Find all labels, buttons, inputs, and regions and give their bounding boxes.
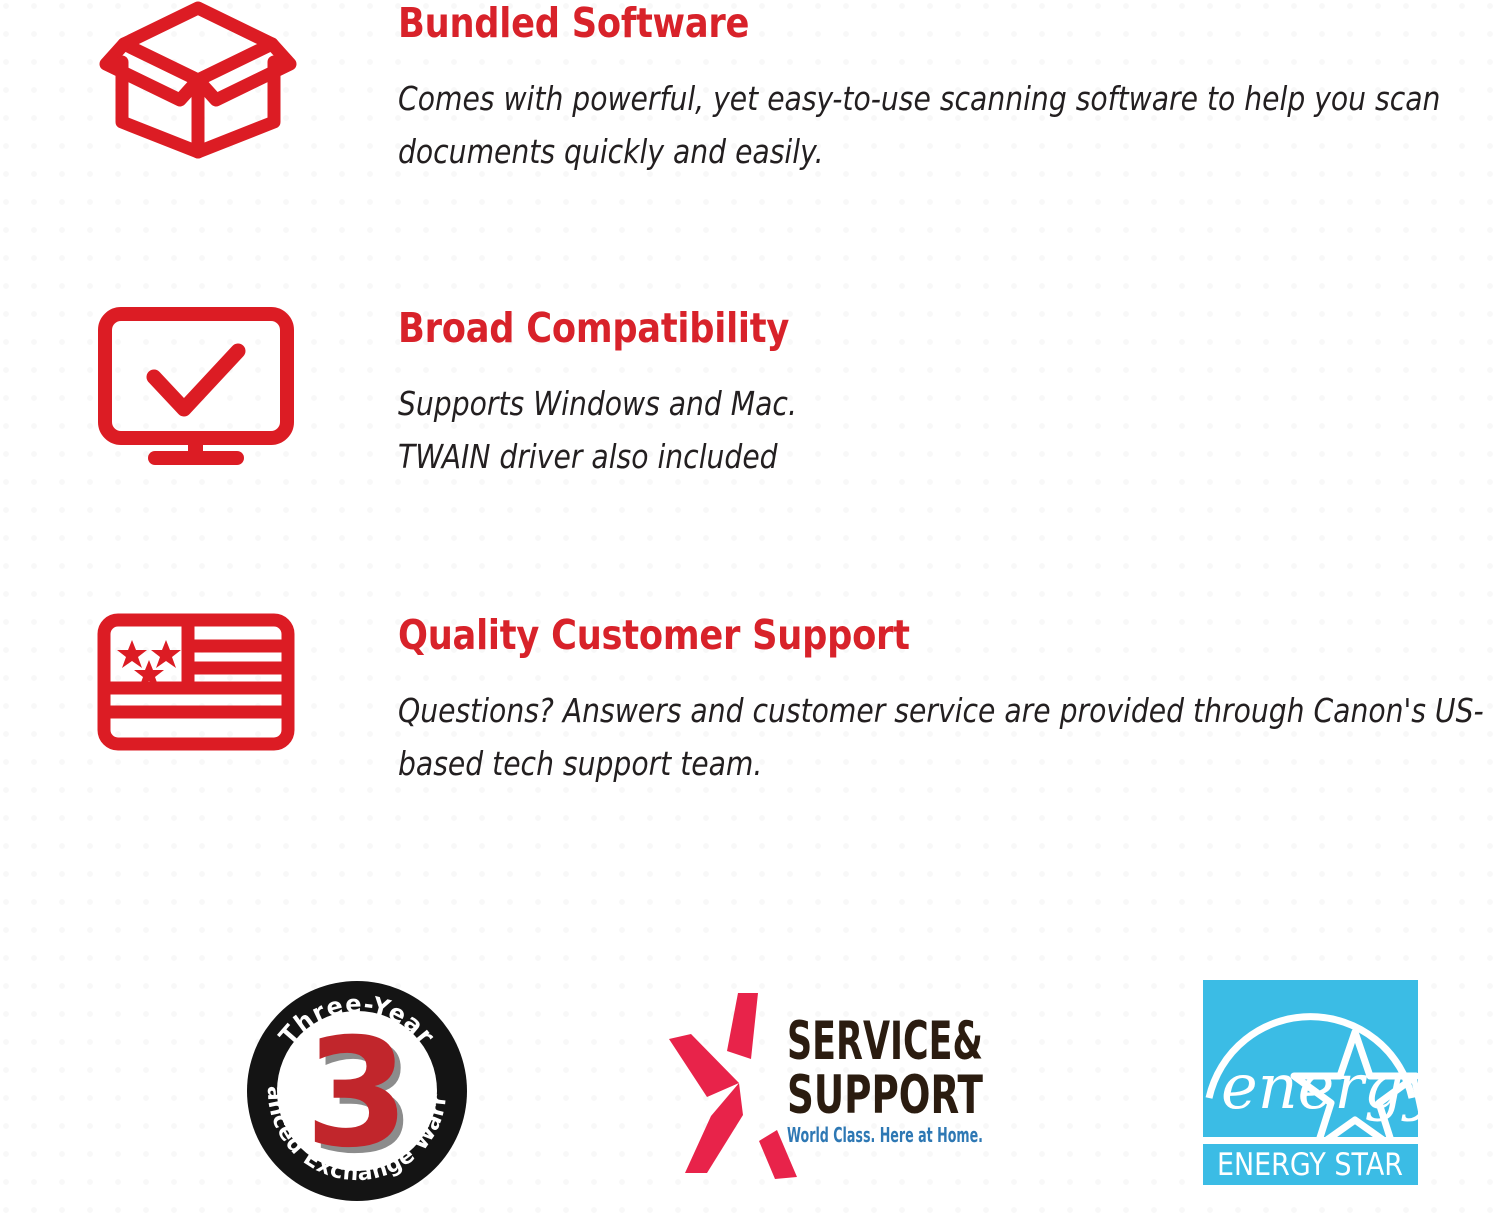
feature-row-quality-customer-support: Quality Customer Support Questions? Answ… <box>0 612 1500 790</box>
service-wordmark-line1: SERVICE& <box>787 1011 983 1072</box>
energy-script-word: energy <box>1221 1050 1418 1123</box>
feature-text-cell: Bundled Software Comes with powerful, ye… <box>398 0 1500 178</box>
feature-body: Questions? Answers and customer service … <box>398 684 1492 790</box>
energy-star-graphic: energy ENERGY STAR <box>1203 980 1418 1185</box>
service-star-icon <box>669 993 797 1179</box>
feature-text-cell: Broad Compatibility Supports Windows and… <box>398 305 1500 483</box>
feature-title: Quality Customer Support <box>398 612 1339 658</box>
feature-text-cell: Quality Customer Support Questions? Answ… <box>398 612 1500 790</box>
feature-row-bundled-software: Bundled Software Comes with powerful, ye… <box>0 0 1500 178</box>
feature-icon-cell <box>0 0 398 160</box>
open-box-icon <box>96 0 301 160</box>
monitor-check-icon <box>96 305 296 470</box>
certification-badge-strip: 3 3 Three-Year Advanced Exchange Warrant… <box>0 955 1500 1216</box>
service-tagline: World Class. Here at Home. <box>787 1123 983 1147</box>
service-wordmark-line2: SUPPORT <box>787 1065 983 1126</box>
energy-star-badge: energy ENERGY STAR <box>1203 980 1418 1185</box>
feature-body: Comes with powerful, yet easy-to-use sca… <box>398 72 1492 178</box>
feature-title: Broad Compatibility <box>398 305 1339 351</box>
service-support-graphic: SERVICE& SUPPORT World Class. Here at Ho… <box>665 987 995 1185</box>
energy-star-wordmark: ENERGY STAR <box>1217 1147 1403 1183</box>
three-year-warranty-badge: 3 3 Three-Year Advanced Exchange Warrant… <box>243 975 471 1207</box>
warranty-seal-graphic: 3 3 Three-Year Advanced Exchange Warrant… <box>243 975 471 1207</box>
feature-body: Supports Windows and Mac. TWAIN driver a… <box>398 377 1492 483</box>
service-and-support-badge: SERVICE& SUPPORT World Class. Here at Ho… <box>665 987 995 1185</box>
us-flag-icon <box>96 612 296 752</box>
feature-row-broad-compatibility: Broad Compatibility Supports Windows and… <box>0 305 1500 483</box>
feature-panel: Bundled Software Comes with powerful, ye… <box>0 0 1500 1216</box>
feature-icon-cell <box>0 305 398 470</box>
feature-title: Bundled Software <box>398 0 1339 46</box>
feature-icon-cell <box>0 612 398 752</box>
